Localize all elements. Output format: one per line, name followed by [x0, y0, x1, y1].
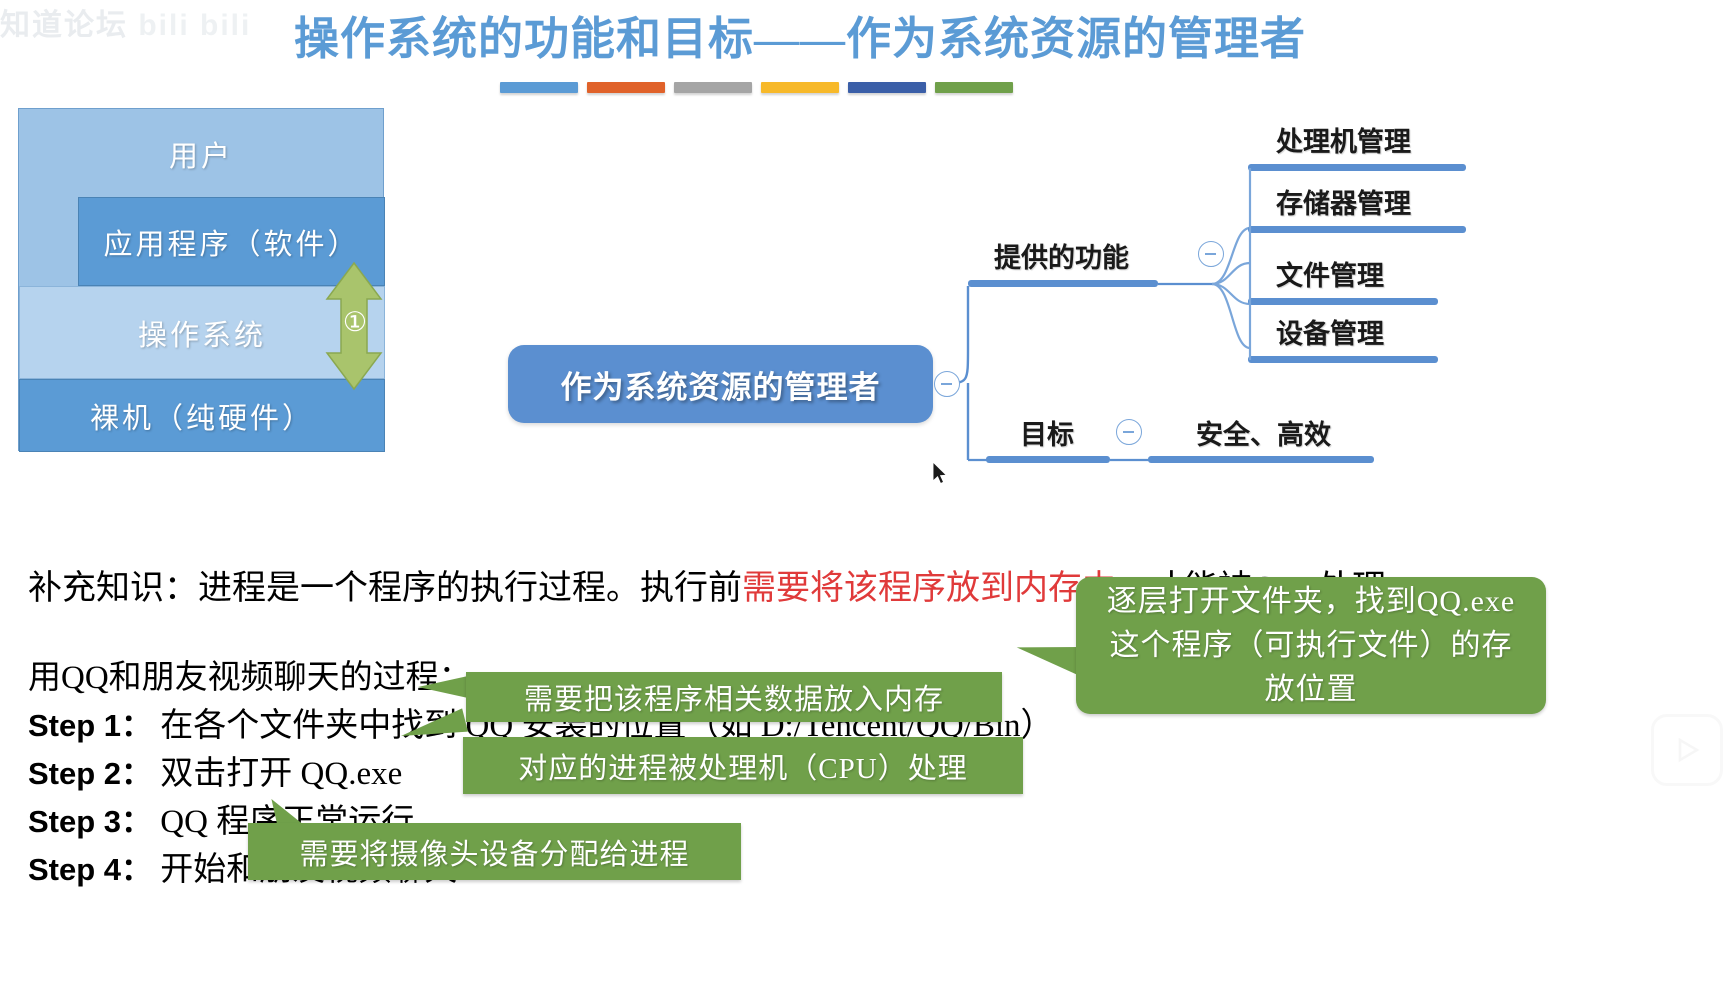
mindmap-leaf-safe-efficient[interactable]: 安全、高效: [1196, 413, 1331, 452]
mindmap-leaf-processor-management[interactable]: 处理机管理: [1276, 120, 1411, 159]
mindmap-diagram: 作为系统资源的管理者 提供的功能 处理机管理 存储器管理 文件管理 设备管理 目…: [490, 108, 1500, 498]
callout-step2-tail: [418, 676, 468, 698]
layer-operating-system-label: 操作系统: [138, 312, 266, 354]
step-2-label: Step 2：: [28, 756, 152, 791]
callout-step1-line2: 这个程序（可执行文件）的存: [1110, 624, 1513, 668]
mindmap-connectors: [490, 108, 1500, 498]
callout-step4: 需要将摄像头设备分配给进程: [248, 823, 741, 880]
callout-step1-line1: 逐层打开文件夹，找到QQ.exe: [1107, 580, 1515, 624]
layer-user-label: 用户: [169, 133, 233, 175]
color-bar-segment-orange: [587, 82, 665, 93]
callout-step1: 逐层打开文件夹，找到QQ.exe 这个程序（可执行文件）的存 放位置: [1076, 577, 1546, 714]
mindmap-leaf-file-management[interactable]: 文件管理: [1276, 254, 1384, 293]
color-bar-segment-grey: [674, 82, 752, 93]
supplement-highlight: 需要将该程序放到内存中: [742, 570, 1116, 607]
callout-step2: 需要把该程序相关数据放入内存: [466, 672, 1002, 722]
color-bar-segment-yellow: [761, 82, 839, 93]
callout-step1-line3: 放位置: [1265, 668, 1358, 712]
step-4-label: Step 4：: [28, 852, 152, 887]
step-1-label: Step 1：: [28, 708, 152, 743]
mindmap-branch-functions-collapse-minus-icon[interactable]: [1198, 241, 1224, 267]
player-corner-badge: [1651, 714, 1723, 786]
mindmap-leaf-device-management[interactable]: 设备管理: [1276, 312, 1384, 351]
accent-color-bar: [500, 82, 1013, 93]
layer-application-label: 应用程序（软件）: [103, 221, 359, 263]
callout-step3: 对应的进程被处理机（CPU）处理: [463, 737, 1023, 794]
page-title: 操作系统的功能和目标——作为系统资源的管理者: [0, 2, 1600, 67]
mindmap-leaf-memory-management[interactable]: 存储器管理: [1276, 182, 1411, 221]
color-bar-segment-darkblue: [848, 82, 926, 93]
supplement-prefix: 补充知识：进程是一个程序的执行过程。执行前: [28, 570, 742, 607]
mindmap-root-node[interactable]: 作为系统资源的管理者: [508, 345, 933, 423]
mouse-pointer-icon: [933, 462, 949, 486]
mindmap-branch-functions-label[interactable]: 提供的功能: [994, 236, 1129, 275]
layer-user: 用户: [19, 109, 383, 199]
mindmap-root-collapse-minus-icon[interactable]: [934, 371, 960, 397]
double-headed-arrow-icon: [319, 261, 389, 391]
play-triangle-icon: [1670, 733, 1704, 767]
step-3-label: Step 3：: [28, 804, 152, 839]
layered-architecture-diagram: 用户 应用程序（软件） 操作系统 裸机（纯硬件） ①: [18, 108, 384, 451]
mindmap-branch-goals-label[interactable]: 目标: [1020, 413, 1074, 452]
color-bar-segment-blue: [500, 82, 578, 93]
step-2-text: 双击打开 QQ.exe: [160, 756, 402, 792]
mindmap-branch-goals-collapse-minus-icon[interactable]: [1116, 419, 1142, 445]
color-bar-segment-green: [935, 82, 1013, 93]
layer-hardware-label: 裸机（纯硬件）: [90, 395, 314, 437]
